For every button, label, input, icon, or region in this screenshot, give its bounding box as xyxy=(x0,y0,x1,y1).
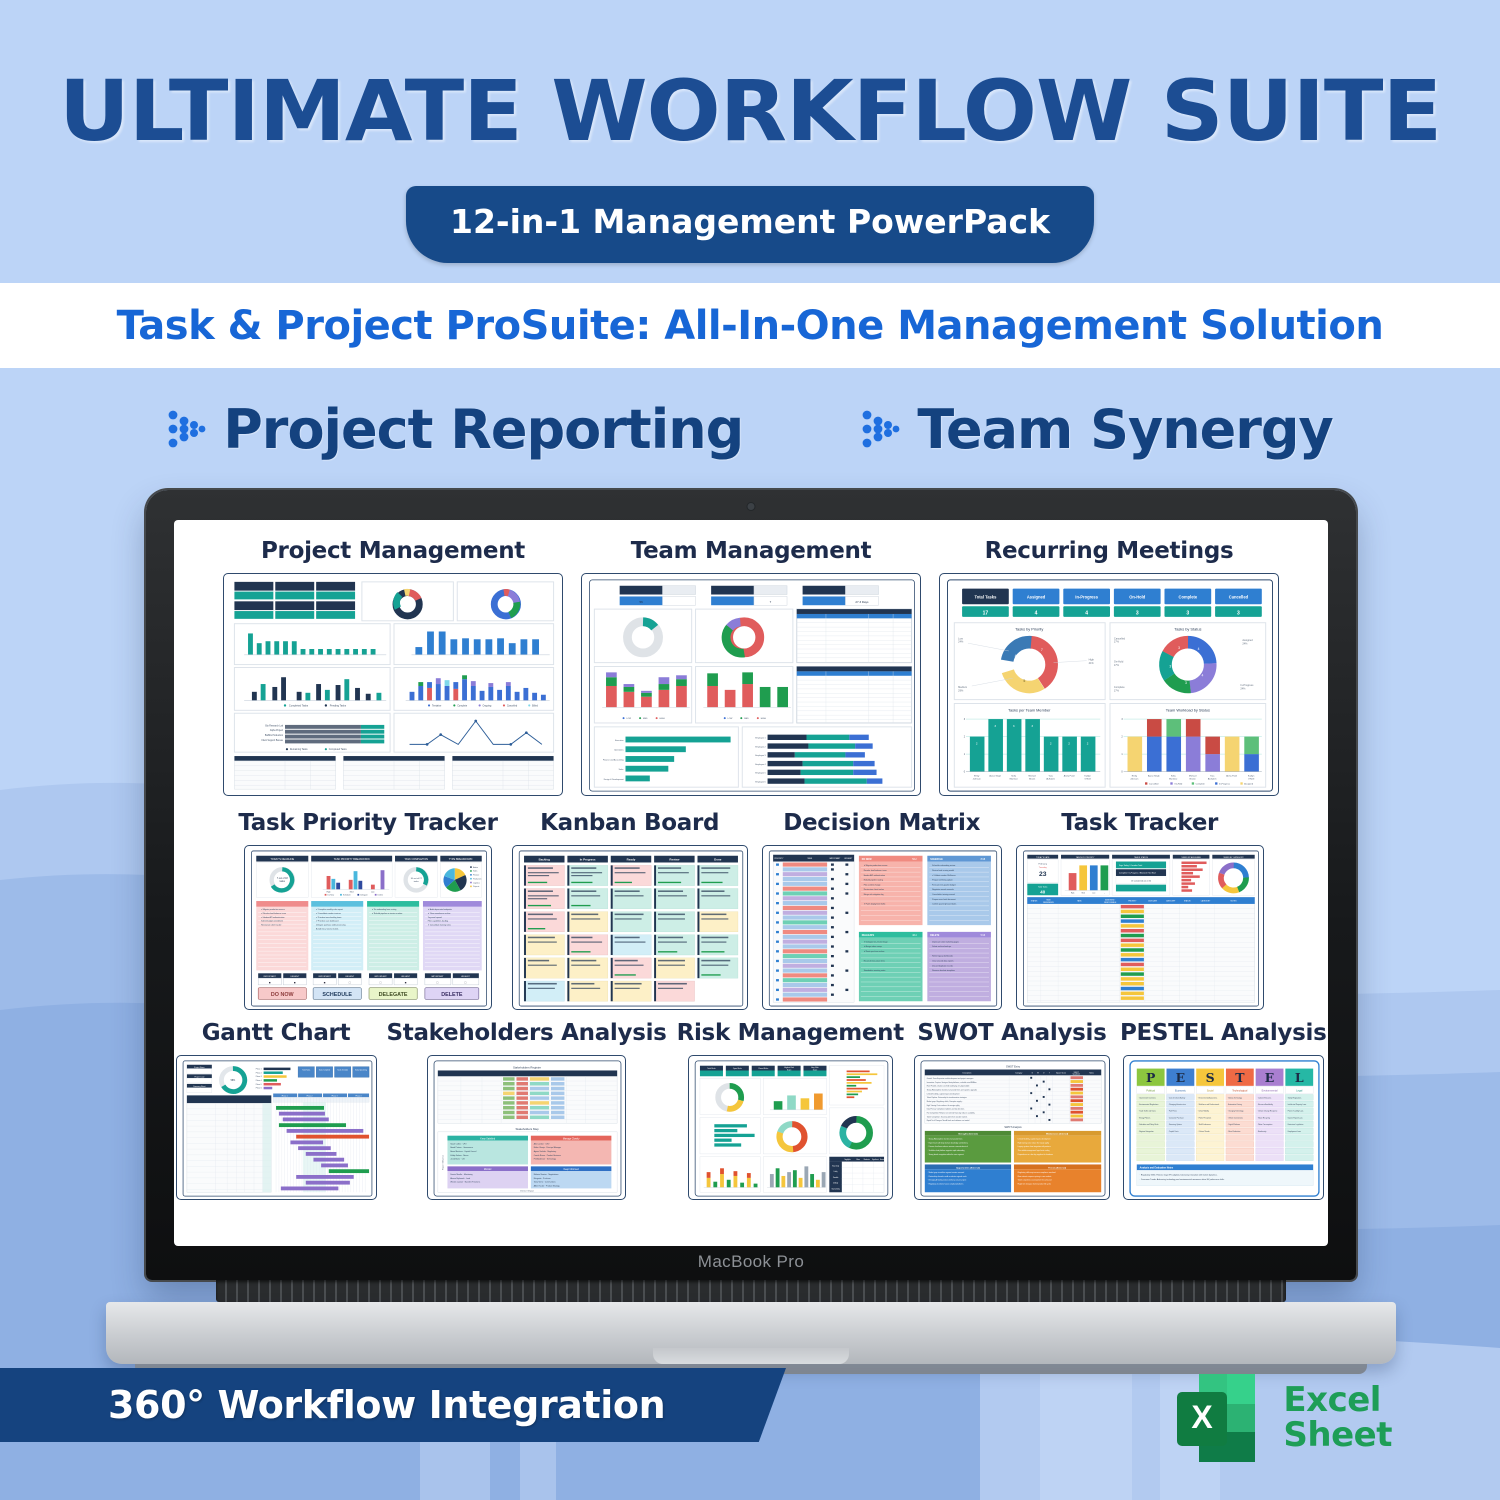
page-title: ULTIMATE WORKFLOW SUITE xyxy=(0,62,1500,160)
svg-text:✔ Validate vendor SLA terms: ✔ Validate vendor SLA terms xyxy=(932,874,956,877)
svg-text:Phase 2: Phase 2 xyxy=(306,1095,312,1097)
svg-text:7: 7 xyxy=(1041,648,1043,652)
svg-text:Logistics: Logistics xyxy=(473,881,480,884)
svg-text:Total Tasks: Total Tasks xyxy=(1038,886,1047,889)
dashboard-card-team-management[interactable]: Team Management xyxy=(581,538,921,796)
svg-text:✔ Prioritize user dashboard: ✔ Prioritize user dashboard xyxy=(316,920,338,923)
svg-text:Schedule: Schedule xyxy=(343,895,351,897)
dashboard-row-1: Project Management xyxy=(192,538,1310,796)
svg-text:58%: 58% xyxy=(230,1080,235,1082)
svg-text:Design & Development: Design & Development xyxy=(604,778,624,781)
svg-text:URGENT: URGENT xyxy=(401,976,411,978)
svg-text:Impact Score: Impact Score xyxy=(1056,1072,1066,1075)
dashboard-card-gantt-chart[interactable]: Gantt Chart Project NameProject LeadSumm… xyxy=(176,1020,377,1200)
svg-text:✔ Consolidate training notes: ✔ Consolidate training notes xyxy=(428,924,451,927)
svg-text:Alpha Project: Alpha Project xyxy=(270,729,284,732)
dashboard-title: Kanban Board xyxy=(540,810,719,836)
team-management-preview: 56 7 27.3 Days xyxy=(585,577,919,794)
svg-text:Submit budget amendment: Submit budget amendment xyxy=(261,920,283,923)
project-management-preview: Completed TasksPending Tasks xyxy=(227,577,561,794)
dashboard-thumbnail[interactable]: PRIORITYTASKIMPORTANTURGENT xyxy=(762,845,1002,1010)
dashboard-card-swot-analysis[interactable]: SWOT Analysis SWOT Entry DescriptionCate… xyxy=(914,1020,1110,1200)
task-priority-tracker-preview: TODAY'S DEADLINETASK PRIORITY BREAKDOWN … xyxy=(248,849,490,1008)
brand-name: Excel Sheet xyxy=(1283,1383,1392,1452)
svg-text:Phase 2: Phase 2 xyxy=(255,1072,261,1074)
svg-text:□: □ xyxy=(464,980,466,984)
svg-text:Sales: Sales xyxy=(619,769,624,771)
dashboard-thumbnail[interactable]: Project NameProject LeadSummary Sheet 58… xyxy=(176,1055,377,1200)
svg-text:5: 5 xyxy=(1023,679,1025,683)
svg-text:DAYS LEFT: DAYS LEFT xyxy=(1166,900,1176,903)
svg-text:Dennis Mueller · Monitoring: Dennis Mueller · Monitoring xyxy=(450,1173,472,1176)
svg-text:On-Hold: On-Hold xyxy=(1174,784,1183,786)
svg-text:5/16: 5/16 xyxy=(980,935,985,937)
svg-text:Aarav Singh: Aarav Singh xyxy=(989,774,1001,777)
dashboard-thumbnail[interactable]: TODAY'S DEADLINETASK PRIORITY BREAKDOWN … xyxy=(244,845,492,1010)
svg-text:TODAY'S DATE: TODAY'S DATE xyxy=(1036,856,1050,859)
svg-text:✔ Migrate production servers: ✔ Migrate production servers xyxy=(863,864,887,867)
svg-text:Employee 5: Employee 5 xyxy=(755,773,765,775)
svg-text:Negotiate annual renewals: Negotiate annual renewals xyxy=(932,888,954,891)
svg-text:Assigned: Assigned xyxy=(1027,594,1046,599)
subtitle-text: Task & Project ProSuite: All-In-One Mana… xyxy=(117,303,1384,349)
svg-text:Reconcile low-value items: Reconcile low-value items xyxy=(863,960,884,963)
svg-text:Consolidate training manual: Consolidate training manual xyxy=(932,893,955,896)
svg-text:Confirm quarterly board dates: Confirm quarterly board dates xyxy=(932,903,956,906)
svg-text:✔ Rebuild pipeline on invoice: ✔ Rebuild pipeline on invoice number xyxy=(372,912,403,915)
svg-text:✔ Complete monthly sales repor: ✔ Complete monthly sales report xyxy=(316,908,343,911)
svg-text:17%: 17% xyxy=(1114,664,1120,667)
svg-text:Completed Tasks: Completed Tasks xyxy=(329,748,348,751)
svg-text:Keep Informed: Keep Informed xyxy=(564,1168,580,1171)
svg-text:Employee 2: Employee 2 xyxy=(755,746,765,748)
svg-text:Opportunities (External): Opportunities (External) xyxy=(956,1166,980,1169)
svg-text:IMPORTANT: IMPORTANT xyxy=(264,975,277,978)
svg-text:Projects: Projects xyxy=(473,885,479,888)
svg-text:Phase 1: Phase 1 xyxy=(281,1095,287,1097)
svg-text:Severe: Severe xyxy=(880,1159,885,1161)
laptop-body xyxy=(106,1302,1396,1364)
svg-text:In-Progress: In-Progress xyxy=(1219,783,1230,786)
svg-text:Open Risks: Open Risks xyxy=(733,1068,742,1070)
svg-text:High: High xyxy=(1071,892,1074,894)
svg-text:□: □ xyxy=(349,980,351,984)
svg-text:Agnes Yoshida · Regulatory: Agnes Yoshida · Regulatory xyxy=(534,1150,556,1153)
svg-text:3: 3 xyxy=(1237,610,1240,616)
svg-text:Phase 4: Phase 4 xyxy=(255,1080,261,1082)
svg-text:REFERENCE: REFERENCE xyxy=(1043,902,1054,904)
svg-text:Med: Med xyxy=(1081,892,1084,894)
svg-text:27.3 Days: 27.3 Days xyxy=(855,600,869,604)
svg-text:3: 3 xyxy=(1185,681,1187,685)
svg-text:DELEGATE: DELEGATE xyxy=(861,934,874,937)
svg-text:SCHEDULE: SCHEDULE xyxy=(322,992,352,998)
svg-text:40: 40 xyxy=(1040,889,1045,894)
svg-text:Filter capabilities backlog: Filter capabilities backlog xyxy=(428,920,448,923)
dashboard-title: PESTEL Analysis xyxy=(1120,1020,1327,1046)
svg-text:Team Workload by Status: Team Workload by Status xyxy=(1166,707,1210,712)
svg-text:✔ Delegate tier-2 ticket triag: ✔ Delegate tier-2 ticket triage xyxy=(863,940,887,943)
svg-text:Emily: Emily xyxy=(974,775,980,777)
svg-text:E: E xyxy=(1175,1070,1185,1085)
svg-text:X: X xyxy=(1192,1399,1214,1435)
svg-text:BioBits Production: BioBits Production xyxy=(265,734,284,737)
svg-text:Stakeholders Register: Stakeholders Register xyxy=(513,1066,541,1070)
subtitle-bar: Task & Project ProSuite: All-In-One Mana… xyxy=(0,283,1500,368)
dashboard-thumbnail[interactable]: SWOT Entry DescriptionCategory SWOT Impa… xyxy=(914,1055,1110,1200)
svg-text:✔ Assign inbox sweep: ✔ Assign inbox sweep xyxy=(863,945,881,948)
svg-text:Cancelled: Cancelled xyxy=(507,705,518,707)
svg-text:L: L xyxy=(1295,1070,1304,1085)
dashboard-row-2: Task Priority Tracker TODAY'S DEADLI xyxy=(192,810,1310,1010)
svg-text:Notes: Notes xyxy=(1089,1072,1094,1075)
svg-text:Michael: Michael xyxy=(1028,775,1036,777)
keyboard xyxy=(216,1280,1286,1302)
svg-text:Employee 6: Employee 6 xyxy=(755,781,765,783)
svg-text:24%: 24% xyxy=(958,641,964,644)
kanban-board-preview: BacklogIn ProgressReady ReviewDone xyxy=(516,849,746,1008)
svg-text:Restructure client tracker: Restructure client tracker xyxy=(863,888,884,891)
svg-text:Low: Low xyxy=(371,891,375,893)
svg-text:Social: Social xyxy=(1206,1089,1213,1092)
svg-text:Remove obsolete templates: Remove obsolete templates xyxy=(932,969,955,972)
svg-text:Review: Review xyxy=(669,857,680,861)
svg-text:Aisha Patel: Aisha Patel xyxy=(1226,774,1237,777)
svg-text:Bundle tier-2 service tickets: Bundle tier-2 service tickets xyxy=(316,927,338,930)
svg-text:DUE DATE: DUE DATE xyxy=(1148,900,1157,903)
svg-text:RESPONSIBLE: RESPONSIBLE xyxy=(1104,902,1117,904)
svg-text:10 out of 27: 10 out of 27 xyxy=(411,877,423,880)
svg-text:Margarita · Purchase: Margarita · Purchase xyxy=(534,1177,551,1180)
svg-text:Cancelled: Cancelled xyxy=(1149,784,1159,786)
svg-text:Delegate purchase order proces: Delegate purchase order processing xyxy=(316,924,345,927)
svg-text:Phase 3: Phase 3 xyxy=(331,1095,337,1097)
svg-text:8/18: 8/18 xyxy=(980,859,985,861)
footer-ribbon: 360° Workflow Integration xyxy=(0,1368,786,1442)
svg-text:Complete: Complete xyxy=(1196,783,1206,786)
svg-text:Minor: Minor xyxy=(856,1159,860,1161)
svg-text:Tasks per Team Member: Tasks per Team Member xyxy=(1008,707,1051,712)
dashboard-card-task-tracker[interactable]: Task Tracker TODAY'S DATETASKS BY PRIORI… xyxy=(1016,810,1264,1010)
dashboard-title: Task Tracker xyxy=(1061,810,1218,836)
svg-text:Martinez: Martinez xyxy=(1010,777,1018,780)
svg-text:Med: Med xyxy=(350,891,354,893)
svg-text:Employee 4: Employee 4 xyxy=(755,764,766,766)
svg-text:TYPE BREAKDOWN: TYPE BREAKDOWN xyxy=(449,858,473,861)
svg-text:Do Now: Do Now xyxy=(328,895,335,897)
svg-text:Unlikely: Unlikely xyxy=(833,1183,838,1185)
svg-text:Tag email spread: Tag email spread xyxy=(428,917,442,919)
svg-text:IMPORTANT: IMPORTANT xyxy=(374,975,387,978)
svg-text:Phase 6: Phase 6 xyxy=(255,1088,261,1090)
svg-text:Sofia: Sofia xyxy=(1011,775,1017,777)
svg-text:Alex Landon · CEO: Alex Landon · CEO xyxy=(534,1142,550,1145)
pestel-notes-title: Analysis and Evaluation Notes xyxy=(1139,1167,1173,1170)
subtitle-pill-badge: 12-in-1 Management PowerPack xyxy=(406,186,1094,263)
svg-text:Complete: Complete xyxy=(457,704,468,707)
svg-text:Albert Tucker · Product Strate: Albert Tucker · Product Strategy xyxy=(534,1184,560,1187)
svg-text:Tasks by Priority: Tasks by Priority xyxy=(1015,627,1043,632)
svg-text:TASKS BY CATEGORY: TASKS BY CATEGORY xyxy=(1223,856,1244,859)
svg-text:Delegate: Delegate xyxy=(360,894,367,897)
svg-text:Employee 1: Employee 1 xyxy=(755,738,765,740)
dashboard-thumbnail[interactable]: PES TEL PoliticalEconomicSocial xyxy=(1123,1055,1324,1200)
svg-text:DELETE: DELETE xyxy=(441,992,463,998)
svg-text:Tuesday: Tuesday xyxy=(1038,867,1047,869)
hero-banner: ULTIMATE WORKFLOW SUITE 12-in-1 Manageme… xyxy=(0,0,1500,283)
svg-text:Total Risks: Total Risks xyxy=(707,1067,715,1070)
svg-text:Score: Score xyxy=(787,1068,792,1071)
svg-text:Manage Closely: Manage Closely xyxy=(563,1139,580,1141)
svg-text:Kaitlyn: Kaitlyn xyxy=(1248,774,1255,777)
dashboard-card-risk-management[interactable]: Risk Management xyxy=(677,1020,904,1200)
svg-text:Weaknesses (Internal): Weaknesses (Internal) xyxy=(1046,1133,1068,1136)
svg-text:Martinez: Martinez xyxy=(1169,777,1177,780)
svg-text:Production: Production xyxy=(473,877,481,880)
svg-text:Assigned: Assigned xyxy=(1244,783,1254,786)
svg-text:Operations: Operations xyxy=(614,749,624,752)
laptop-model-label: MacBook Pro xyxy=(146,1252,1356,1272)
svg-text:Done: Done xyxy=(714,857,722,861)
svg-text:Bio Research Lab: Bio Research Lab xyxy=(265,724,283,727)
svg-text:Keep Satisfied: Keep Satisfied xyxy=(480,1138,496,1141)
brand-line-2: Sheet xyxy=(1283,1418,1392,1453)
svg-text:Tasks Upcoming: Tasks Upcoming xyxy=(354,1070,366,1072)
svg-text:CATEGORY: CATEGORY xyxy=(1200,900,1210,903)
svg-text:Melanie Newton · Negotiations: Melanie Newton · Negotiations xyxy=(534,1173,559,1176)
svg-text:3: 3 xyxy=(1186,610,1189,616)
svg-text:3: 3 xyxy=(1178,646,1180,650)
svg-text:Quadrant: Quadrant xyxy=(1073,1073,1081,1076)
svg-text:5/12: 5/12 xyxy=(912,859,917,861)
svg-text:✔ Fix onboarding form routing: ✔ Fix onboarding form routing xyxy=(372,908,396,911)
dashboard-card-recurring-meetings[interactable]: Recurring Meetings xyxy=(939,538,1279,796)
svg-text:Aarav Singh: Aarav Singh xyxy=(1148,774,1160,777)
svg-text:Cancelled: Cancelled xyxy=(1229,594,1249,599)
svg-text:Phase 5: Phase 5 xyxy=(255,1084,261,1086)
svg-text:HIGH: HIGH xyxy=(761,718,767,720)
svg-text:Deprecate stale marketing page: Deprecate stale marketing pages xyxy=(932,940,959,943)
svg-text:Sales: Sales xyxy=(473,871,477,873)
svg-text:Completed Tasks: Completed Tasks xyxy=(289,704,309,707)
svg-text:Review lead scoring model: Review lead scoring model xyxy=(932,870,954,872)
svg-text:Closed Risks: Closed Risks xyxy=(758,1068,768,1070)
svg-text:Environmental: Environmental xyxy=(1261,1089,1277,1092)
svg-text:Finance: Finance xyxy=(473,875,479,877)
svg-text:Tonia Verne · Communities: Tonia Verne · Communities xyxy=(534,1181,556,1184)
svg-text:Backlog: Backlog xyxy=(538,857,549,861)
svg-text:4: 4 xyxy=(1085,610,1088,616)
svg-text:PRIORITY: PRIORITY xyxy=(1128,901,1137,903)
svg-text:Brown: Brown xyxy=(1029,777,1036,780)
svg-text:SWOT Analysis: SWOT Analysis xyxy=(1004,1126,1022,1129)
feature-highlights-row: Project Reporting Team Synergy xyxy=(0,368,1500,490)
svg-text:TASK: TASK xyxy=(807,857,813,860)
dashboard-title: Gantt Chart xyxy=(202,1020,351,1046)
svg-text:Complete: Complete xyxy=(1179,594,1198,599)
svg-text:4: 4 xyxy=(1201,673,1203,677)
svg-text:13 Completed out of 40: 13 Completed out of 40 xyxy=(1131,879,1151,882)
svg-text:■: ■ xyxy=(294,980,296,984)
svg-text:Retire legacy dashboards: Retire legacy dashboards xyxy=(932,955,953,958)
svg-text:Aisha Patel: Aisha Patel xyxy=(1064,774,1075,777)
dashboard-thumbnail[interactable]: Stakeholders Register xyxy=(427,1055,626,1200)
svg-text:Michael: Michael xyxy=(1189,775,1197,777)
svg-text:DELETE: DELETE xyxy=(930,935,940,937)
svg-text:DO NOW: DO NOW xyxy=(861,859,872,861)
svg-text:Forecast next-quarter budget: Forecast next-quarter budget xyxy=(932,883,956,886)
svg-text:Economic: Economic xyxy=(1175,1089,1187,1092)
svg-text:tasks: tasks xyxy=(414,880,419,883)
svg-text:tasks: tasks xyxy=(280,880,286,883)
svg-text:Aleesa Rajkowski · Lead: Aleesa Rajkowski · Lead xyxy=(450,1177,470,1180)
svg-text:Johnson: Johnson xyxy=(973,778,982,780)
dashboard-card-kanban-board[interactable]: Kanban Board xyxy=(512,810,748,1010)
svg-text:7 out of 18: 7 out of 18 xyxy=(277,877,289,880)
svg-text:Restructure client tracker: Restructure client tracker xyxy=(261,924,282,927)
svg-text:S: S xyxy=(1205,1070,1214,1085)
svg-text:Tasks by Status: Tasks by Status xyxy=(1174,627,1201,632)
svg-text:Phase 1: Phase 1 xyxy=(255,1069,261,1071)
svg-text:17%: 17% xyxy=(1114,689,1120,692)
svg-text:Sarah Collins · CFO: Sarah Collins · CFO xyxy=(450,1142,467,1145)
svg-text:Delete archive backups: Delete archive backups xyxy=(932,945,951,948)
feature-label: Team Synergy xyxy=(917,398,1332,461)
dashboard-card-task-priority-tracker[interactable]: Task Priority Tracker TODAY'S DEADLI xyxy=(238,810,497,1010)
svg-text:Resolve load balancer issue: Resolve load balancer issue xyxy=(863,870,886,872)
svg-text:Admin: Admin xyxy=(473,866,478,869)
svg-text:URGENT: URGENT xyxy=(461,976,471,978)
svg-text:IMPORTANT: IMPORTANT xyxy=(319,975,332,978)
svg-text:Score: Score xyxy=(812,1068,817,1071)
svg-text:DELEGATE: DELEGATE xyxy=(379,992,408,998)
svg-text:Johnson: Johnson xyxy=(1130,778,1139,780)
dashboard-thumbnail[interactable]: Total RisksOpen RisksClosed Risks Highes… xyxy=(688,1055,893,1200)
svg-text:✔ Prioritize team backlog item: ✔ Prioritize team backlog items xyxy=(316,916,341,919)
svg-text:LOW: LOW xyxy=(728,718,733,720)
svg-text:■: ■ xyxy=(269,980,271,984)
svg-text:3: 3 xyxy=(1136,610,1139,616)
svg-text:URGENT: URGENT xyxy=(345,976,355,978)
svg-text:Strengths (Internal): Strengths (Internal) xyxy=(958,1133,978,1136)
svg-text:Power / Influence: Power / Influence xyxy=(443,1155,445,1170)
dot-arrow-icon xyxy=(861,407,901,451)
dashboard-card-decision-matrix[interactable]: Decision Matrix PRIORITYTASKIMPORTANTURG… xyxy=(762,810,1002,1010)
laptop-screen: Project Management xyxy=(174,520,1328,1246)
dashboard-title: Risk Management xyxy=(677,1020,904,1046)
svg-text:Jared Burns · CIO: Jared Burns · CIO xyxy=(450,1158,465,1161)
svg-text:Harden API authentication: Harden API authentication xyxy=(863,874,884,877)
svg-text:Weston Lawson · Baseline Funct: Weston Lawson · Baseline Functions xyxy=(450,1181,480,1184)
svg-text:Category: Category xyxy=(1015,1072,1022,1075)
dashboard-card-project-management[interactable]: Project Management xyxy=(223,538,563,796)
recurring-meetings-preview: Total TasksAssignedIn-Progress On-HoldCo… xyxy=(943,577,1277,794)
svg-text:STATUS: STATUS xyxy=(1030,900,1037,903)
svg-text:SWOT Entry: SWOT Entry xyxy=(1006,1066,1021,1069)
svg-text:MED: MED xyxy=(744,718,749,720)
svg-text:Priti Anderson · Technology: Priti Anderson · Technology xyxy=(534,1158,556,1161)
svg-text:URGENT: URGENT xyxy=(290,976,300,978)
svg-text:Maika Okonjo · Principal Manag: Maika Okonjo · Principal Manager xyxy=(534,1146,562,1149)
dashboard-title: Project Management xyxy=(261,538,525,564)
svg-text:Merge risk mitigation log: Merge risk mitigation log xyxy=(863,893,883,896)
svg-text:Executive: Executive xyxy=(615,739,623,742)
laptop-lid: Project Management xyxy=(146,490,1356,1280)
svg-text:Kuldip Vohora · Nexus: Kuldip Vohora · Nexus xyxy=(450,1154,468,1157)
svg-text:Tentative: Tentative xyxy=(432,704,442,707)
svg-text:Possible: Possible xyxy=(833,1177,839,1179)
svg-text:IMPORTANT: IMPORTANT xyxy=(431,975,444,978)
svg-text:Delete: Delete xyxy=(378,894,383,897)
svg-text:4/14: 4/14 xyxy=(912,935,917,937)
dashboard-thumbnail[interactable]: Total TasksAssignedIn-Progress On-HoldCo… xyxy=(939,573,1279,796)
svg-text:24%: 24% xyxy=(1240,687,1246,690)
svg-text:Al-Salem: Al-Salem xyxy=(1046,777,1055,780)
svg-text:Interest / Impact: Interest / Impact xyxy=(520,1189,534,1192)
dot-arrow-icon xyxy=(167,407,207,451)
dashboard-title: Team Management xyxy=(631,538,872,564)
svg-text:STATUS: STATUS xyxy=(1184,900,1191,903)
dashboard-card-pestel-analysis[interactable]: PESTEL Analysis xyxy=(1120,1020,1327,1200)
dashboard-thumbnail[interactable]: TODAY'S DATETASKS BY PRIORITY TASKS STAT… xyxy=(1016,845,1264,1010)
dashboard-title: SWOT Analysis xyxy=(917,1020,1106,1046)
swot-analysis-preview: SWOT Entry DescriptionCategory SWOT Impa… xyxy=(918,1059,1108,1198)
svg-text:DO NOW: DO NOW xyxy=(271,992,295,998)
dashboard-thumbnail[interactable]: 56 7 27.3 Days xyxy=(581,573,921,796)
svg-text:Stakeholders Map: Stakeholders Map xyxy=(516,1127,539,1131)
svg-text:· Regulatory Shifts: Policies: · Regulatory Shifts: Policies shape EV a… xyxy=(1139,1173,1217,1176)
svg-text:Sofia: Sofia xyxy=(1171,775,1177,777)
svg-text:Days Today / Overdue Total: Days Today / Overdue Total xyxy=(1118,864,1142,867)
svg-text:Threats (External): Threats (External) xyxy=(1048,1166,1066,1169)
svg-text:4: 4 xyxy=(1035,610,1038,616)
svg-text:O'Neill: O'Neill xyxy=(1085,778,1092,780)
svg-text:Monitor: Monitor xyxy=(484,1168,492,1171)
dashboard-thumbnail[interactable]: Completed TasksPending Tasks xyxy=(223,573,563,796)
svg-text:Al-Salem: Al-Salem xyxy=(1208,777,1217,780)
svg-text:41%: 41% xyxy=(1089,662,1095,665)
svg-text:Employee 3: Employee 3 xyxy=(755,755,765,757)
svg-text:Billed: Billed xyxy=(532,705,538,707)
svg-text:SCHEDULE: SCHEDULE xyxy=(930,859,943,861)
svg-text:□: □ xyxy=(380,980,382,984)
dashboard-thumbnail[interactable]: BacklogIn ProgressReady ReviewDone xyxy=(512,845,748,1010)
svg-text:Standardise meeting notes: Standardise meeting notes xyxy=(863,969,885,972)
svg-text:P: P xyxy=(1146,1070,1156,1085)
svg-text:Discard duplicate records: Discard duplicate records xyxy=(932,964,953,967)
svg-text:· Consumer Trends: Advancing t: · Consumer Trends: Advancing technology … xyxy=(1139,1178,1224,1181)
svg-text:TASK COMPLETION: TASK COMPLETION xyxy=(404,858,428,861)
svg-text:Client Support Bureau: Client Support Bureau xyxy=(261,739,284,742)
footer-ribbon-text: 360° Workflow Integration xyxy=(108,1383,665,1427)
svg-text:29%: 29% xyxy=(958,689,964,692)
svg-text:TASKS BY ASSIGNEE: TASKS BY ASSIGNEE xyxy=(1181,856,1201,859)
dashboard-title: Recurring Meetings xyxy=(985,538,1234,564)
svg-text:In-Progress: In-Progress xyxy=(1075,594,1098,599)
svg-text:✔ Patch deployment hotfix: ✔ Patch deployment hotfix xyxy=(863,903,885,906)
svg-text:17%: 17% xyxy=(1114,641,1120,644)
svg-text:Rebuild pipeline routing: Rebuild pipeline routing xyxy=(863,879,882,882)
svg-text:Ongoing: Ongoing xyxy=(483,705,493,707)
gantt-chart-preview: Project NameProject LeadSummary Sheet 58… xyxy=(180,1059,375,1198)
webcam-icon xyxy=(748,503,755,510)
svg-text:Ready: Ready xyxy=(626,857,635,861)
dashboard-title: Stakeholders Analysis xyxy=(387,1020,667,1046)
svg-text:4: 4 xyxy=(1198,647,1200,651)
svg-text:LOW: LOW xyxy=(626,718,631,720)
dashboard-card-stakeholders-analysis[interactable]: Stakeholders Analysis Stakeholders Regis… xyxy=(387,1020,667,1200)
task-tracker-preview: TODAY'S DATETASKS BY PRIORITY TASKS STAT… xyxy=(1020,849,1262,1008)
